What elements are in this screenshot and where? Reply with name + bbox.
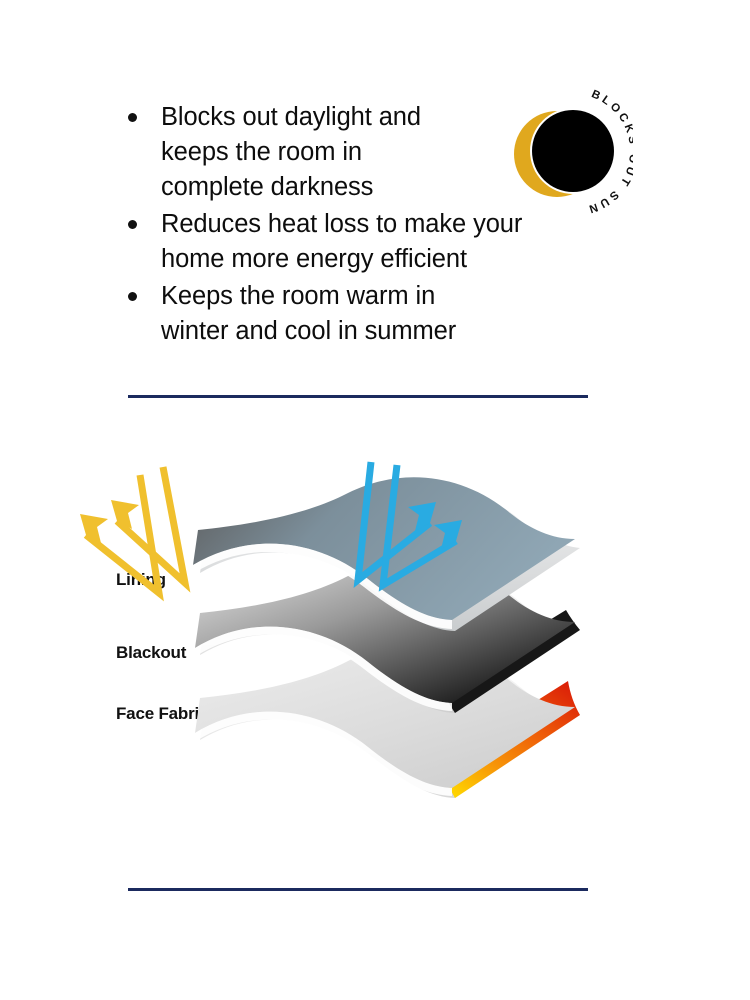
divider-bottom bbox=[128, 888, 588, 891]
divider-top bbox=[128, 395, 588, 398]
bullet-text: Blocks out daylight and keeps the room i… bbox=[161, 100, 421, 205]
bullet-dot-icon bbox=[128, 113, 137, 122]
bullet-line: Keeps the room warm in bbox=[161, 279, 456, 314]
blocks-out-sun-badge: BLOCKS OUT SUN bbox=[503, 88, 633, 218]
bullet-text: Keeps the room warm in winter and cool i… bbox=[161, 279, 456, 349]
heat-reflection-arrows bbox=[86, 467, 185, 593]
fabric-layers-diagram bbox=[0, 415, 750, 825]
bullet-line: winter and cool in summer bbox=[161, 314, 456, 349]
list-item: Blocks out daylight and keeps the room i… bbox=[128, 100, 558, 205]
bullet-dot-icon bbox=[128, 292, 137, 301]
bullet-line: Reduces heat loss to make your bbox=[161, 207, 522, 242]
list-item: Keeps the room warm in winter and cool i… bbox=[128, 279, 558, 349]
bullet-line: Blocks out daylight and bbox=[161, 100, 421, 135]
bullet-text: Reduces heat loss to make your home more… bbox=[161, 207, 522, 277]
bullet-line: home more energy efficient bbox=[161, 242, 522, 277]
bullet-line: keeps the room in bbox=[161, 135, 421, 170]
list-item: Reduces heat loss to make your home more… bbox=[128, 207, 558, 277]
eclipse-disc-icon bbox=[532, 110, 614, 192]
bullet-dot-icon bbox=[128, 220, 137, 229]
bullet-line: complete darkness bbox=[161, 170, 421, 205]
feature-bullet-list: Blocks out daylight and keeps the room i… bbox=[128, 100, 558, 351]
